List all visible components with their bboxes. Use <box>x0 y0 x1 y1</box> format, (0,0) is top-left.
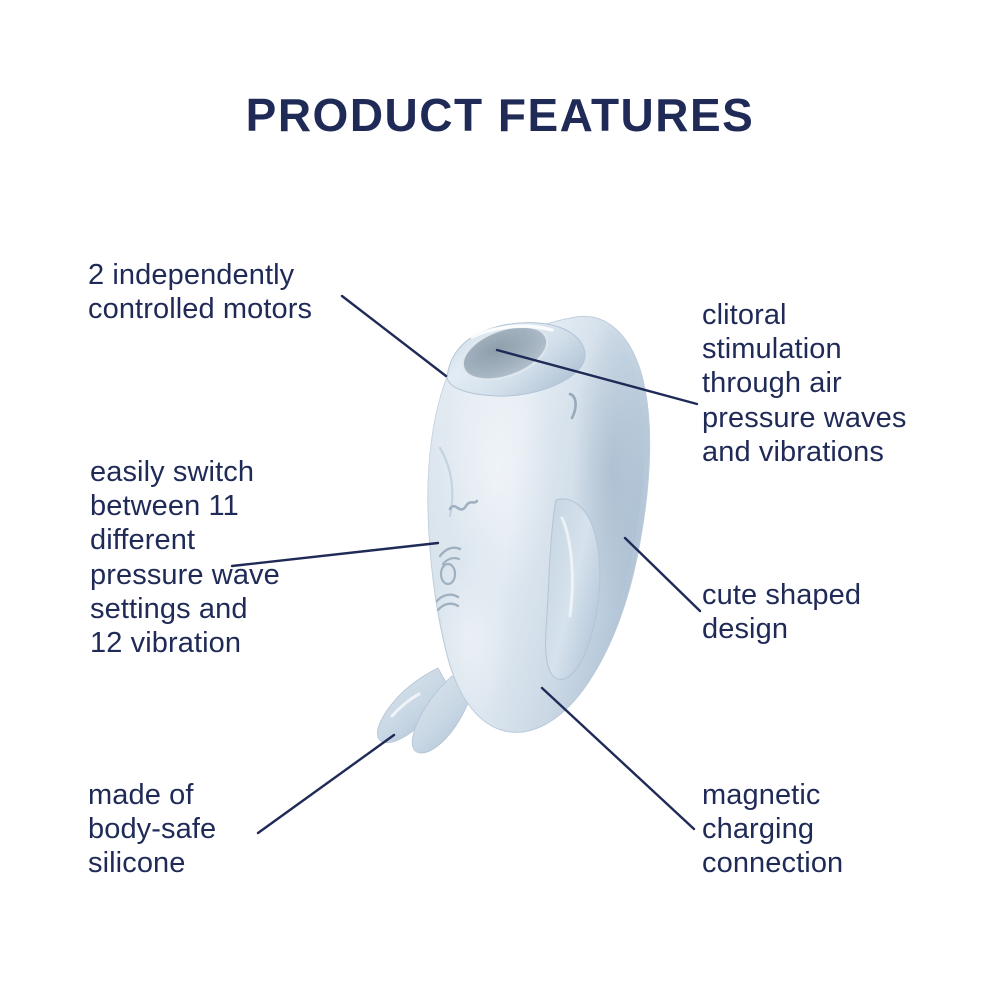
product-features-page: PRODUCT FEATURES <box>0 0 1000 1000</box>
callout-label-silicone: made of body-safe silicone <box>88 778 318 881</box>
callout-label-magnetic: magnetic charging connection <box>702 778 952 881</box>
leader-line-cute <box>625 538 700 611</box>
callout-label-motors: 2 independently controlled motors <box>88 258 388 326</box>
callout-label-clitoral: clitoral stimulation through air pressur… <box>702 298 962 469</box>
leader-line-magnetic <box>542 688 694 829</box>
callout-label-cute: cute shaped design <box>702 578 952 646</box>
callout-label-settings: easily switch between 11 different press… <box>90 455 330 660</box>
